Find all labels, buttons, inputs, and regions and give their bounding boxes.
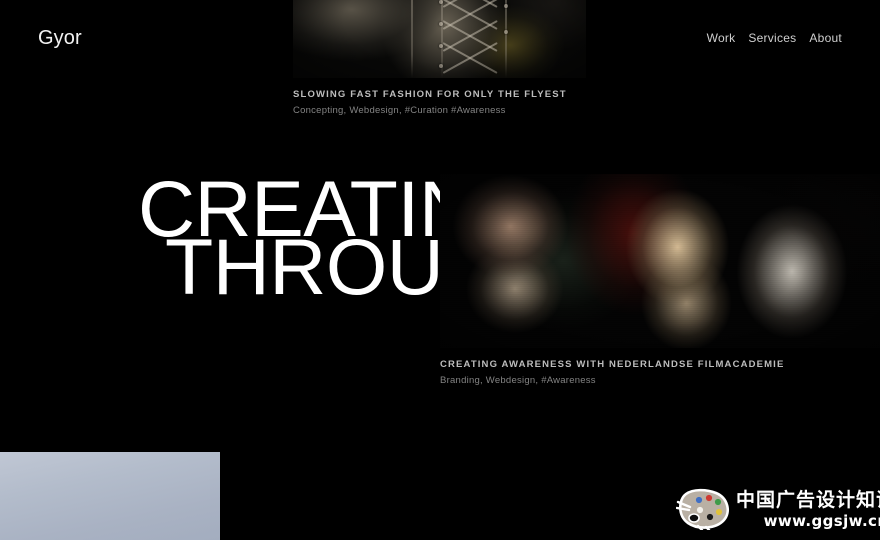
nav-link-about[interactable]: About bbox=[809, 31, 842, 45]
nav-link-work[interactable]: Work bbox=[707, 31, 736, 45]
paint-palette-icon bbox=[676, 486, 732, 535]
watermark-text: 中国广告设计知识网 www.ggsjw.cn bbox=[736, 491, 880, 529]
project-image-fashion[interactable] bbox=[293, 0, 586, 78]
nav-link-services[interactable]: Services bbox=[748, 31, 796, 45]
watermark: 中国广告设计知识网 www.ggsjw.cn bbox=[676, 484, 872, 536]
main-navigation: Work Services About bbox=[707, 31, 842, 45]
project-image-sky[interactable] bbox=[0, 452, 220, 540]
project-card-film[interactable]: CREATING AWARENESS WITH NEDERLANDSE FILM… bbox=[440, 174, 880, 387]
project-title: CREATING AWARENESS WITH NEDERLANDSE FILM… bbox=[440, 359, 880, 371]
project-card-fashion[interactable]: SLOWING FAST FASHION FOR ONLY THE FLYEST… bbox=[293, 0, 586, 117]
project-card-sky[interactable] bbox=[0, 452, 220, 540]
project-caption-fashion: SLOWING FAST FASHION FOR ONLY THE FLYEST… bbox=[293, 78, 586, 117]
project-meta: Branding, Webdesign, #Awareness bbox=[440, 375, 880, 387]
watermark-site-name: 中国广告设计知识网 bbox=[736, 491, 880, 510]
project-meta: Concepting, Webdesign, #Curation #Awaren… bbox=[293, 105, 586, 117]
pale-blue-sky-photo bbox=[0, 452, 220, 540]
image-vignette bbox=[293, 0, 586, 78]
page-root: SLOWING FAST FASHION FOR ONLY THE FLYEST… bbox=[0, 0, 880, 540]
project-title: SLOWING FAST FASHION FOR ONLY THE FLYEST bbox=[293, 89, 586, 101]
image-vignette bbox=[440, 174, 880, 348]
project-image-film[interactable] bbox=[440, 174, 880, 348]
watermark-url: www.ggsjw.cn bbox=[736, 514, 880, 529]
site-logo[interactable]: Gyor bbox=[38, 27, 82, 49]
project-caption-film: CREATING AWARENESS WITH NEDERLANDSE FILM… bbox=[440, 348, 880, 387]
